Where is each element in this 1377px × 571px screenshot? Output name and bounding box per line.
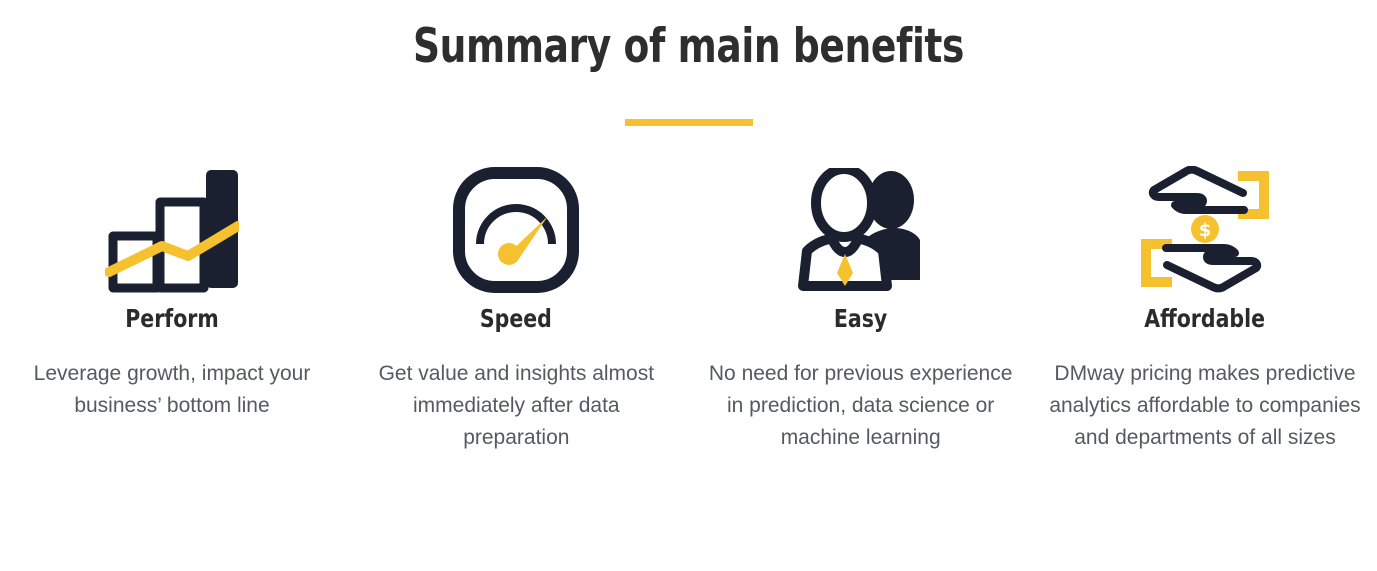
- section-header: Summary of main benefits: [0, 0, 1377, 126]
- benefit-card-affordable: $ Affordable DMway pricing makes predict…: [1033, 160, 1377, 454]
- title-underline-rule: [625, 119, 753, 126]
- benefit-title: Affordable: [1145, 306, 1266, 331]
- benefit-title: Speed: [480, 306, 552, 331]
- benefit-card-speed: Speed Get value and insights almost imme…: [344, 160, 688, 454]
- hands-holding-coin-icon: $: [1130, 160, 1280, 300]
- benefit-description: Leverage growth, impact your business’ b…: [15, 358, 330, 422]
- benefit-title: Perform: [125, 306, 219, 331]
- benefits-grid: Perform Leverage growth, impact your bus…: [0, 160, 1377, 454]
- benefit-description: Get value and insights almost immediatel…: [359, 358, 674, 454]
- two-people-icon: [786, 160, 936, 300]
- speedometer-icon: [441, 160, 591, 300]
- benefit-title: Easy: [834, 306, 887, 331]
- page-title: Summary of main benefits: [138, 22, 1240, 71]
- benefit-card-easy: Easy No need for previous experience in …: [689, 160, 1033, 454]
- benefit-card-perform: Perform Leverage growth, impact your bus…: [0, 160, 344, 422]
- svg-text:$: $: [1199, 220, 1212, 241]
- benefits-section: Summary of main benefits Perform L: [0, 0, 1377, 571]
- bar-chart-growth-icon: [97, 160, 247, 300]
- benefit-description: DMway pricing makes predictive analytics…: [1047, 358, 1362, 454]
- benefit-description: No need for previous experience in predi…: [703, 358, 1018, 454]
